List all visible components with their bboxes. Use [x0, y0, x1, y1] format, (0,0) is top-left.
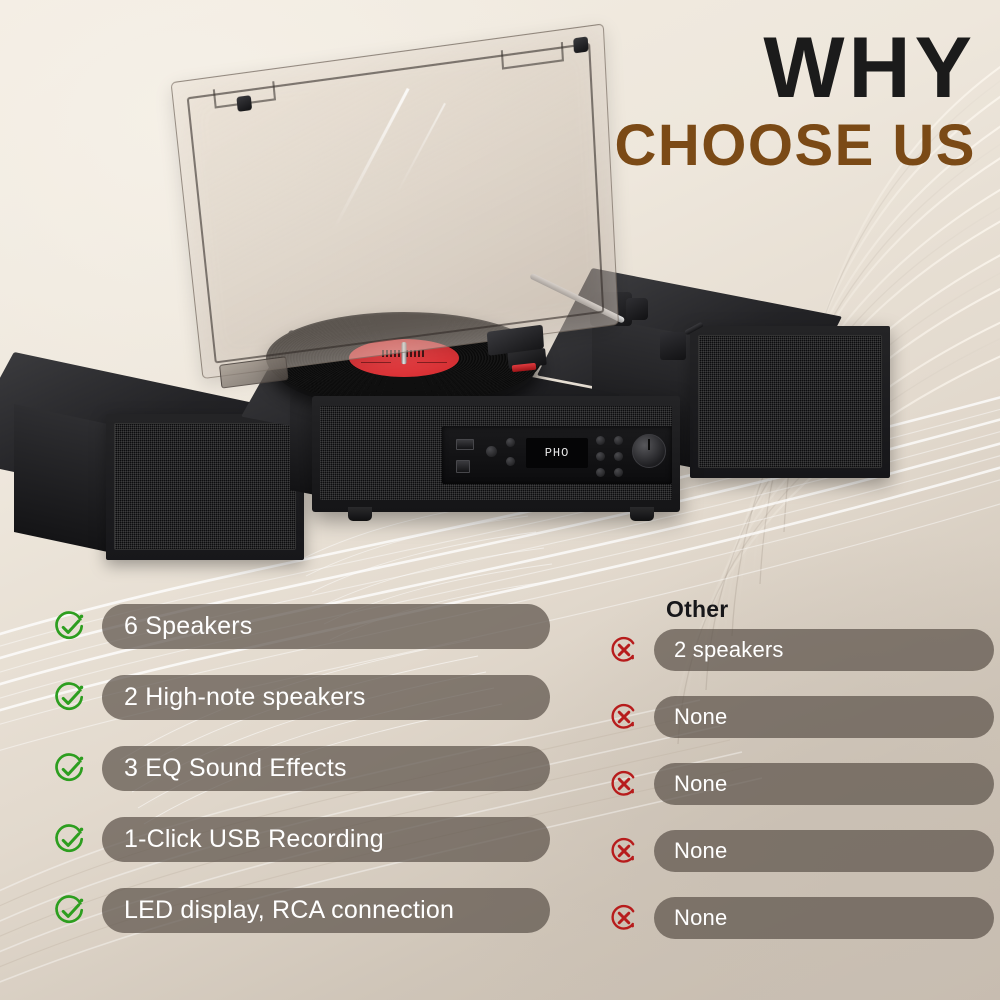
eq-button[interactable]: [596, 452, 605, 461]
tonearm-rest: [660, 332, 686, 360]
other-row: None: [608, 696, 958, 738]
turntable-front-panel: PHO: [312, 396, 680, 512]
right-speaker-grille: [698, 335, 882, 468]
dust-cover-lid[interactable]: [171, 23, 619, 379]
left-speaker-grille: [114, 423, 296, 550]
other-column-heading: Other: [666, 596, 958, 623]
x-circle-icon: [608, 835, 640, 867]
check-circle-icon: [52, 609, 88, 645]
feature-row: 3 EQ Sound Effects: [52, 746, 522, 791]
other-pill: 2 speakers: [654, 629, 994, 671]
feature-row: LED display, RCA connection: [52, 888, 522, 933]
control-panel[interactable]: PHO: [442, 426, 672, 484]
play-pause-button[interactable]: [506, 438, 515, 447]
record-label-line: [361, 362, 391, 363]
left-speaker-side: [14, 404, 109, 552]
check-circle-icon: [52, 751, 88, 787]
headline-why: WHY: [614, 26, 976, 110]
x-circle-icon: [608, 902, 640, 934]
feature-pill: 2 High-note speakers: [102, 675, 550, 720]
other-row: None: [608, 830, 958, 872]
turntable-foot: [348, 507, 372, 521]
tonearm-cartridge: [512, 363, 537, 372]
x-circle-icon: [608, 634, 640, 666]
feature-pill: 1-Click USB Recording: [102, 817, 550, 862]
led-display: PHO: [526, 438, 588, 468]
other-row: 2 speakers: [608, 629, 958, 671]
rec-button[interactable]: [614, 436, 623, 445]
aux-in-jack[interactable]: [486, 446, 497, 457]
check-circle-icon: [52, 822, 88, 858]
x-circle-icon: [608, 701, 640, 733]
led-display-text: PHO: [545, 446, 570, 460]
tonearm-counterweight: [626, 298, 648, 320]
mode-button[interactable]: [596, 436, 605, 445]
headline-choose-us: CHOOSE US: [614, 116, 976, 177]
other-pill: None: [654, 897, 994, 939]
other-row: None: [608, 763, 958, 805]
feature-row: 1-Click USB Recording: [52, 817, 522, 862]
pair-button[interactable]: [614, 452, 623, 461]
record-play-button[interactable]: [596, 468, 605, 477]
check-circle-icon: [52, 893, 88, 929]
feature-pill: LED display, RCA connection: [102, 888, 550, 933]
feature-row: 6 Speakers: [52, 604, 522, 649]
other-row: None: [608, 897, 958, 939]
usb-port[interactable]: [456, 439, 474, 450]
infographic-canvas: WHY CHOOSE US: [0, 0, 1000, 1000]
next-track-button[interactable]: [506, 457, 515, 466]
left-speaker-front: [106, 414, 304, 560]
record-label-line: [417, 362, 447, 363]
dust-cover-hinge: [236, 95, 252, 112]
other-pill: None: [654, 763, 994, 805]
sd-card-slot[interactable]: [456, 460, 470, 473]
other-pill: None: [654, 830, 994, 872]
turntable: PHO: [290, 330, 690, 545]
headline-block: WHY CHOOSE US: [614, 26, 976, 177]
dust-cover-hinge: [573, 36, 588, 53]
other-pill: None: [654, 696, 994, 738]
volume-knob[interactable]: [632, 434, 666, 468]
our-features-column: 6 Speakers 2 High-note speakers: [52, 604, 522, 959]
feature-pill: 6 Speakers: [102, 604, 550, 649]
feature-row: 2 High-note speakers: [52, 675, 522, 720]
turntable-foot: [630, 507, 654, 521]
check-circle-icon: [52, 680, 88, 716]
feature-pill: 3 EQ Sound Effects: [102, 746, 550, 791]
x-circle-icon: [608, 768, 640, 800]
right-speaker-front: [690, 326, 890, 478]
comparison-section: 6 Speakers 2 High-note speakers: [0, 596, 1000, 1000]
del-button[interactable]: [614, 468, 623, 477]
other-brands-column: Other 2 speakers None: [608, 596, 958, 964]
